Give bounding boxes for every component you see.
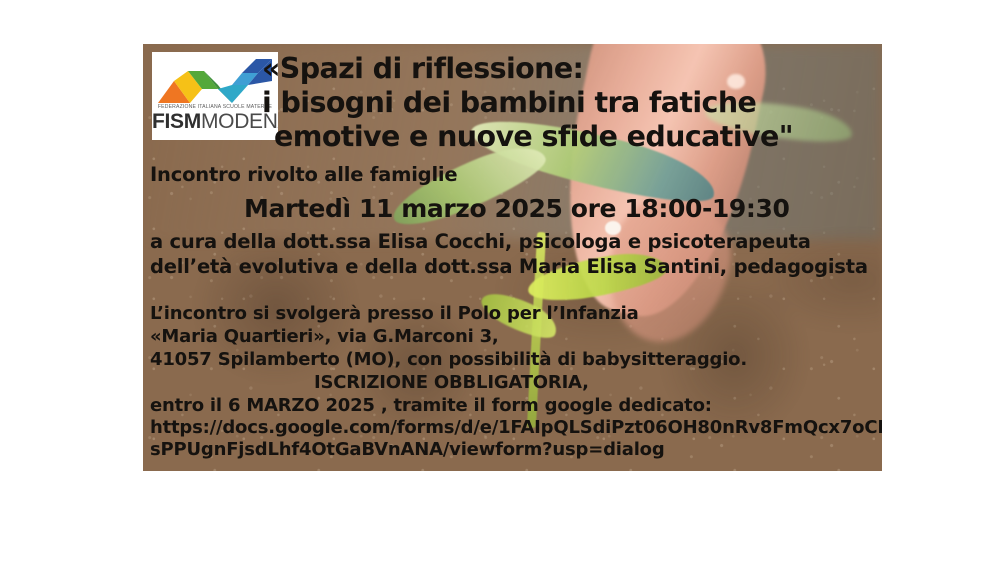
poster-speakers-line-1: a cura della dott.ssa Elisa Cocchi, psic… (150, 230, 811, 253)
event-poster: FEDERAZIONE ITALIANA SCUOLE MATERNE FISM… (143, 44, 882, 471)
fism-modena-logo: FEDERAZIONE ITALIANA SCUOLE MATERNE FISM… (152, 52, 278, 140)
poster-venue-line-2: «Maria Quartieri», via G.Marconi 3, (150, 326, 499, 347)
fism-wordmark-bold: FISM (152, 110, 201, 133)
fism-logo-mark (158, 59, 272, 103)
poster-title-line-2: i bisogni dei bambini tra fatiche (262, 86, 756, 120)
poster-speakers-line-2: dell’età evolutiva e della dott.ssa Mari… (150, 255, 868, 278)
poster-registration-url-line-1: https://docs.google.com/forms/d/e/1FAIpQ… (150, 417, 882, 438)
poster-registration-url-line-2: sPPUgnFjsdLhf4OtGaBVnANA/viewform?usp=di… (150, 439, 665, 460)
poster-registration-heading: ISCRIZIONE OBBLIGATORIA, (314, 372, 589, 393)
poster-datetime: Martedì 11 marzo 2025 ore 18:00-19:30 (244, 194, 790, 223)
poster-title-line-3: emotive e nuove sfide educative" (274, 120, 793, 154)
poster-registration-deadline: entro il 6 MARZO 2025 , tramite il form … (150, 395, 712, 416)
fism-wordmark: FISMMODENA (152, 110, 278, 134)
poster-venue-line-3: 41057 Spilamberto (MO), con possibilità … (150, 349, 747, 370)
poster-title-line-1: «Spazi di riflessione: (262, 52, 583, 86)
poster-venue-line-1: L’incontro si svolgerà presso il Polo pe… (150, 303, 639, 324)
poster-audience: Incontro rivolto alle famiglie (150, 163, 457, 186)
